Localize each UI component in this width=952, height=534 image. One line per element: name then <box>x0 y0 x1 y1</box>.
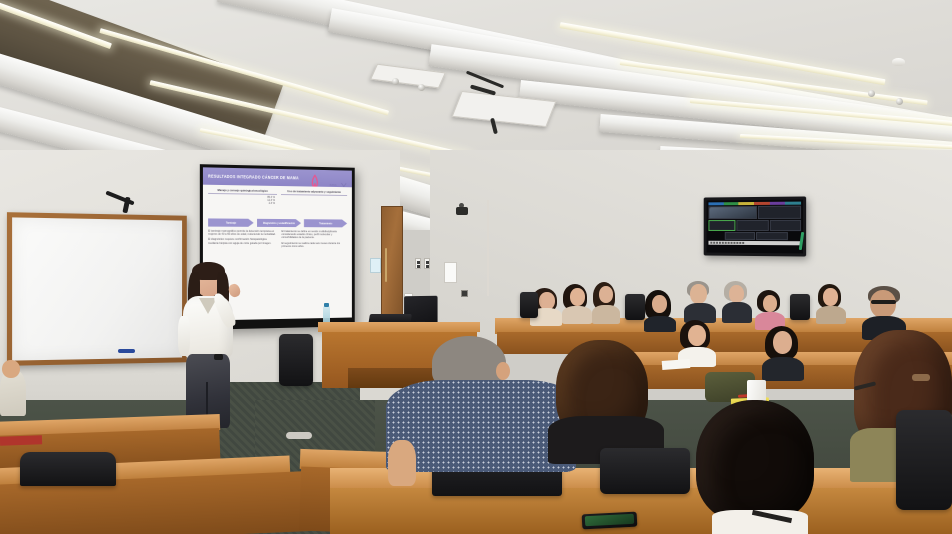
presenter-left-arm <box>178 316 190 356</box>
process-step-label: Tratamiento <box>319 222 332 225</box>
hair-clip <box>912 374 930 381</box>
loose-papers <box>662 359 691 370</box>
light-switch-plate[interactable] <box>415 258 421 269</box>
attendee-woman-dark-straight-hair <box>690 400 826 534</box>
lecture-chair[interactable] <box>790 294 810 320</box>
security-camera <box>456 207 468 215</box>
attendee-woman-ponytail <box>592 282 620 324</box>
head <box>599 286 613 303</box>
blue-dry-erase-marker <box>118 349 135 353</box>
ceiling-spotlight <box>418 84 425 91</box>
head <box>652 295 667 313</box>
windows-taskbar[interactable] <box>708 241 801 246</box>
presenter <box>172 258 250 428</box>
attendee-woman-grey-bob <box>722 281 752 323</box>
diagram-heading-right: Uso de tratamiento adyuvante y seguimien… <box>281 190 347 195</box>
head <box>688 325 706 346</box>
ceiling-spotlight <box>896 98 903 105</box>
process-step-label: Tamizaje <box>226 221 236 224</box>
tv-tile-self-view[interactable] <box>708 206 710 208</box>
wall-conduit <box>487 200 489 296</box>
slide-body-text: El tratamiento se define en sesión multi… <box>281 230 347 240</box>
torso <box>592 305 620 324</box>
head <box>773 331 792 354</box>
attendee-woman-right <box>816 284 846 324</box>
tv-tile-active-speaker[interactable] <box>708 220 735 231</box>
attendee-partial-left-head <box>2 360 20 378</box>
tv-tile-participant-panel[interactable] <box>725 232 756 240</box>
smoke-detector <box>892 58 905 66</box>
torso <box>762 357 804 381</box>
head <box>729 285 744 303</box>
attendee-woman-long-hair <box>644 290 676 330</box>
attendee-woman-bun <box>755 290 785 330</box>
power-outlet[interactable] <box>461 290 468 297</box>
torso <box>816 306 846 324</box>
head <box>690 284 707 304</box>
tv-tile-participant-muted[interactable] <box>736 220 769 231</box>
torso <box>562 306 592 324</box>
tv-tile-row <box>708 232 801 240</box>
process-step: Diagnóstico y estadificación <box>257 219 301 227</box>
slide-process-steps: Tamizaje Diagnóstico y estadificación Tr… <box>208 218 347 227</box>
hair <box>696 400 814 522</box>
ceiling-mounted-projector-rig <box>370 64 446 89</box>
torso <box>722 302 752 323</box>
instructor-desk-top <box>318 322 480 332</box>
chair-wheel-base <box>286 432 312 439</box>
head <box>763 295 777 312</box>
tv-screen <box>707 200 804 254</box>
torso <box>644 316 676 332</box>
presenter-hand-gesturing <box>227 283 241 299</box>
whiteboard <box>7 212 187 366</box>
tv-tile-remote-room[interactable] <box>708 206 757 219</box>
slide-text-columns: El tamizaje mamográfico permite la detec… <box>208 230 347 248</box>
lecture-chair[interactable] <box>520 292 538 318</box>
metric-c: 2.3 % <box>208 201 275 205</box>
eyeglasses <box>871 300 896 304</box>
red-folder <box>0 435 42 445</box>
whiteboard-surface <box>12 217 182 360</box>
tv-tile-row <box>708 220 801 231</box>
slide-title: RESULTADOS INTEGRADO CÁNCER DE MAMA <box>208 174 299 180</box>
slide-column-center: El tratamiento se define en sesión multi… <box>281 230 347 248</box>
head <box>570 288 585 306</box>
process-step-label: Diagnóstico y estadificación <box>263 221 295 224</box>
diagram-metrics: 85.4 % 12.3 % 2.3 % <box>208 194 277 205</box>
slide-body-text: El tamizaje mamográfico permite la detec… <box>208 230 276 237</box>
wall-mounted-video-conference-display[interactable] <box>704 196 806 256</box>
tv-tile-row <box>708 206 801 219</box>
attendee-woman-curly-hair <box>548 340 664 462</box>
diagram-column-right: Uso de tratamiento adyuvante y seguimien… <box>281 190 347 217</box>
ceiling-spotlight <box>868 90 875 97</box>
slide-diagram-row: Manejo y consejo quirúrgico/oncológico 8… <box>208 189 347 217</box>
tv-tile-shared-notes[interactable] <box>758 206 801 219</box>
lecture-chair[interactable] <box>625 294 645 320</box>
ear <box>496 362 510 380</box>
lecture-chair[interactable] <box>20 452 116 486</box>
lecture-chair[interactable] <box>600 448 690 494</box>
tv-tile-participant-camera-off[interactable] <box>770 220 801 231</box>
wall-notice-sign <box>444 262 457 283</box>
lecture-chair[interactable] <box>896 410 952 510</box>
process-step: Tamizaje <box>208 218 254 226</box>
door-handle[interactable] <box>385 248 387 282</box>
slide-column-left: El tamizaje mamográfico permite la detec… <box>208 230 276 248</box>
front-desk-row-front <box>330 488 952 534</box>
head <box>823 288 838 306</box>
diagram-column-left: Manejo y consejo quirúrgico/oncológico 8… <box>208 189 277 216</box>
process-step: Tratamiento <box>304 219 347 227</box>
emergency-information-placard <box>370 258 381 273</box>
slide-body-text: El seguimiento se realiza cada seis mese… <box>281 242 347 248</box>
attendee-woman-dark-hair <box>562 284 592 324</box>
lecture-hall-photo: RESULTADOS INTEGRADO CÁNCER DE MAMA IMSS… <box>0 0 952 534</box>
light-switch-plate[interactable] <box>424 258 430 269</box>
forearm <box>388 440 416 486</box>
presentation-clicker[interactable] <box>214 354 223 360</box>
tv-tile-content-share[interactable] <box>756 232 787 240</box>
presenter-chair[interactable] <box>279 334 313 386</box>
attendee-man-grey-hair <box>684 281 716 323</box>
water-bottle-cap <box>324 303 329 307</box>
slide-body-text: El diagnóstico requiere confirmación his… <box>208 238 276 245</box>
ceiling-spotlight <box>392 78 399 85</box>
attendee-dark-top <box>762 326 804 380</box>
head <box>870 290 896 318</box>
